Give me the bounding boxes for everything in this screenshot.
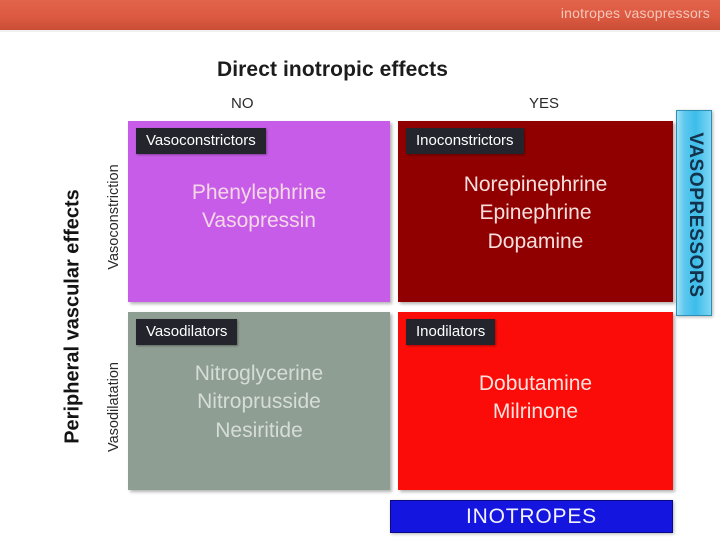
column-axis-title: Direct inotropic effects bbox=[0, 58, 720, 82]
inotropes-banner: INOTROPES bbox=[390, 500, 673, 533]
row-label-vasodilatation: Vasodilatation bbox=[106, 317, 122, 497]
column-label-no: NO bbox=[231, 95, 254, 112]
column-label-yes: YES bbox=[529, 95, 559, 112]
quadrant-drug-list-vasoconstrictors: Phenylephrine Vasopressin bbox=[128, 179, 390, 236]
quadrant-tag-vasoconstrictors: Vasoconstrictors bbox=[136, 128, 266, 154]
quadrant-tag-vasodilators: Vasodilators bbox=[136, 319, 237, 345]
vasopressors-banner-label: VASOPRESSORS bbox=[684, 112, 706, 318]
top-banner: inotropes vasopressors bbox=[0, 0, 720, 32]
quadrant-tag-inoconstrictors: Inoconstrictors bbox=[406, 128, 524, 154]
column-axis-title-text: Direct inotropic effects bbox=[217, 58, 503, 82]
top-banner-title: inotropes vasopressors bbox=[561, 5, 710, 21]
quadrant-inodilators: Inodilators Dobutamine Milrinone bbox=[398, 312, 673, 490]
quadrant-vasodilators: Vasodilators Nitroglycerine Nitroprussid… bbox=[128, 312, 390, 490]
vasopressors-banner: VASOPRESSORS bbox=[676, 110, 712, 316]
quadrant-drug-list-inodilators: Dobutamine Milrinone bbox=[398, 370, 673, 427]
quadrant-inoconstrictors: Inoconstrictors Norepinephrine Epinephri… bbox=[398, 121, 673, 302]
quadrant-tag-inodilators: Inodilators bbox=[406, 319, 495, 345]
inotropes-banner-label: INOTROPES bbox=[391, 505, 672, 529]
quadrant-vasoconstrictors: Vasoconstrictors Phenylephrine Vasopress… bbox=[128, 121, 390, 302]
quadrant-drug-list-inoconstrictors: Norepinephrine Epinephrine Dopamine bbox=[398, 171, 673, 256]
row-axis-title: Peripheral vascular effects bbox=[62, 157, 85, 477]
row-label-vasoconstriction: Vasoconstriction bbox=[106, 127, 122, 307]
quadrant-drug-list-vasodilators: Nitroglycerine Nitroprusside Nesiritide bbox=[128, 360, 390, 445]
